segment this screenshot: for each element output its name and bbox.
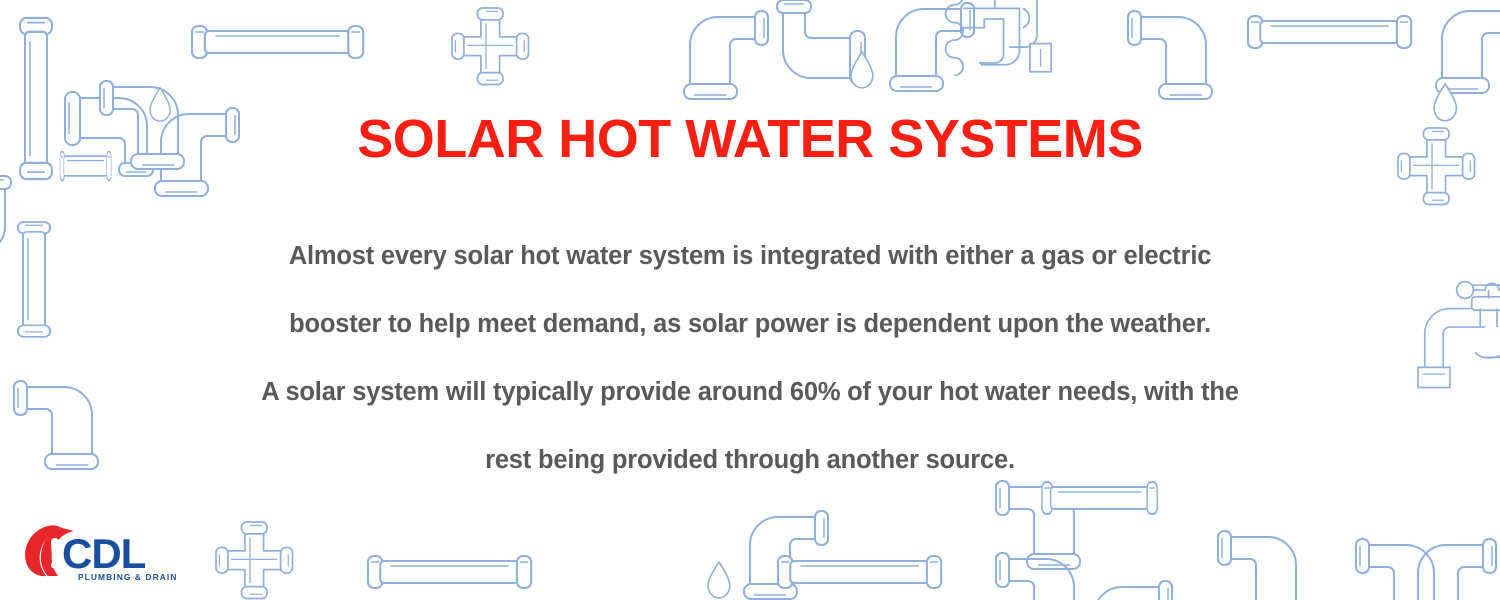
- body-copy: Almost every solar hot water system is i…: [90, 222, 1410, 494]
- logo-wordmark: CDL: [62, 530, 146, 577]
- body-line-4: rest being provided through another sour…: [90, 426, 1410, 494]
- logo-tagline: PLUMBING & DRAINAGE: [78, 572, 178, 582]
- content-layer: SOLAR HOT WATER SYSTEMS Almost every sol…: [0, 0, 1500, 600]
- body-line-3: A solar system will typically provide ar…: [90, 358, 1410, 426]
- body-line-2: booster to help meet demand, as solar po…: [90, 290, 1410, 358]
- cdl-logo[interactable]: CDL PLUMBING & DRAINAGE: [18, 520, 178, 582]
- logo-brand-text: CDL: [62, 530, 146, 577]
- page-title: SOLAR HOT WATER SYSTEMS: [0, 112, 1500, 166]
- poster-canvas: SOLAR HOT WATER SYSTEMS Almost every sol…: [0, 0, 1500, 600]
- body-line-1: Almost every solar hot water system is i…: [90, 222, 1410, 290]
